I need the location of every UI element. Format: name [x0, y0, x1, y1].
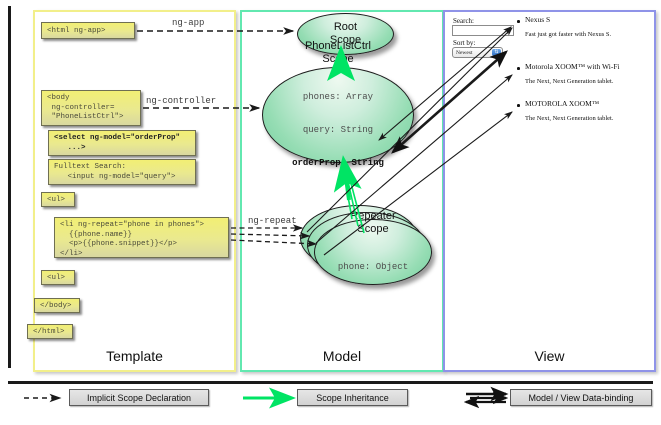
- phonelistctrl-scope-title-line1: PhoneListCtrl: [305, 40, 371, 52]
- list-bullet: [517, 67, 520, 70]
- html-close-box: </html>: [27, 324, 73, 339]
- list-bullet: [517, 104, 520, 107]
- select-orderprop-box: <select ng-model="orderProp" ...>: [48, 130, 196, 156]
- phone-name: Nexus S: [525, 15, 550, 24]
- phone-name: MOTOROLA XOOM™: [525, 99, 599, 108]
- panel-label-template: Template: [35, 348, 234, 364]
- repeater-scope-props: phone: Object: [338, 240, 408, 295]
- diagram-canvas: Template Model View <html ng-app> <body …: [0, 0, 661, 425]
- ul-close-box: <ul>: [41, 270, 75, 285]
- html-tag-box: <html ng-app>: [41, 22, 135, 39]
- panel-label-view: View: [445, 348, 654, 364]
- phone-snippet: Fast just got faster with Nexus S.: [525, 31, 611, 38]
- legend-icon-double-arrow: [466, 394, 506, 402]
- repeater-scope-title: Repeater Scope: [350, 210, 395, 236]
- sort-by-label: Sort by:: [453, 39, 475, 47]
- edge-label-ng-controller: ng-controller: [146, 96, 216, 106]
- phonelistctrl-prop-orderprop: orderProp: String: [292, 158, 384, 169]
- repeater-scope-ellipse: Repeater Scope phone: Object: [314, 219, 432, 285]
- phone-name: Motorola XOOM™ with Wi-Fi: [525, 62, 620, 71]
- phonelistctrl-scope-title-line2: Scope: [322, 53, 353, 65]
- li-ngrepeat-box: <li ng-repeat="phone in phones"> {{phone…: [54, 217, 229, 258]
- list-bullet: [517, 20, 520, 23]
- phonelistctrl-scope-title: PhoneListCtrl Scope: [305, 40, 371, 66]
- legend-scope-inheritance: Scope Inheritance: [297, 389, 408, 406]
- edge-label-ng-app: ng-app: [172, 18, 204, 28]
- left-vertical-rule: [8, 6, 11, 368]
- repeater-scope-title-line2: Scope: [357, 223, 388, 235]
- phonelistctrl-scope-ellipse: PhoneListCtrl Scope phones: Array query:…: [262, 67, 414, 163]
- root-scope-title-line1: Root: [334, 21, 357, 33]
- search-label: Search:: [453, 17, 474, 25]
- panel-template: Template: [33, 10, 236, 372]
- repeater-scope-title-line1: Repeater: [350, 210, 395, 222]
- body-close-box: </body>: [34, 298, 80, 313]
- repeater-prop-phone: phone: Object: [338, 262, 408, 273]
- phonelistctrl-scope-props: phones: Array query: String orderProp: S…: [292, 70, 384, 191]
- search-input[interactable]: [452, 25, 514, 36]
- sort-by-select[interactable]: Newest ⇅: [452, 47, 503, 58]
- panel-label-model: Model: [242, 348, 442, 364]
- legend-implicit-scope-declaration: Implicit Scope Declaration: [69, 389, 209, 406]
- fulltext-search-box: Fulltext Search: <input ng-model="query"…: [48, 159, 196, 185]
- phonelistctrl-prop-phones: phones: Array: [292, 92, 384, 103]
- edge-label-ng-repeat: ng-repeat: [248, 216, 297, 226]
- ul-open-box: <ul>: [41, 192, 75, 207]
- phonelistctrl-prop-query: query: String: [292, 125, 384, 136]
- legend-model-view-data-binding: Model / View Data-binding: [510, 389, 652, 406]
- sort-by-selected-value: Newest: [456, 50, 473, 56]
- phone-snippet: The Next, Next Generation tablet.: [525, 115, 613, 122]
- body-controller-box: <body ng-controller= "PhoneListCtrl">: [41, 90, 141, 126]
- legend-divider-rule: [8, 381, 653, 384]
- phone-snippet: The Next, Next Generation tablet.: [525, 78, 613, 85]
- chevron-updown-icon[interactable]: ⇅: [492, 49, 501, 56]
